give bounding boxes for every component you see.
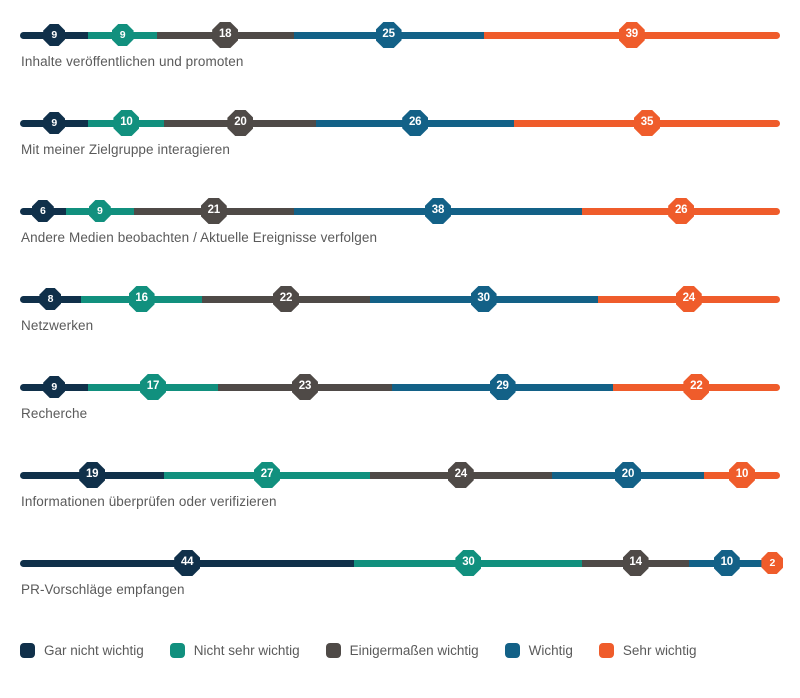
row-label: Netzwerken: [21, 318, 93, 333]
segment-value-marker: 9: [43, 112, 65, 134]
row-label: Mit meiner Zielgruppe interagieren: [21, 142, 230, 157]
segment-value-marker: 8: [39, 288, 61, 310]
segment-value-marker: 29: [490, 374, 516, 400]
segment-value-marker: 9: [43, 24, 65, 46]
bar-segment[interactable]: 20: [164, 120, 316, 127]
segment-value-marker: 20: [227, 110, 253, 136]
bar-segment[interactable]: 26: [316, 120, 514, 127]
segment-value-marker: 9: [112, 24, 134, 46]
segment-value-marker: 44: [174, 550, 200, 576]
legend-item[interactable]: Gar nicht wichtig: [20, 643, 144, 658]
bar-segment[interactable]: 22: [613, 384, 780, 391]
segment-value-marker: 27: [254, 462, 280, 488]
segment-value-marker: 25: [376, 22, 402, 48]
segment-value-marker: 14: [623, 550, 649, 576]
segment-value-marker: 35: [634, 110, 660, 136]
stacked-bar: 816223024: [20, 286, 780, 312]
segment-value-marker: 24: [676, 286, 702, 312]
bar-segment[interactable]: 29: [392, 384, 612, 391]
bar-track: 910202635: [20, 110, 780, 136]
chart-row: 69213826Andere Medien beobachten / Aktue…: [0, 176, 800, 264]
bar-segment[interactable]: 38: [294, 208, 583, 215]
row-label: Inhalte veröffentlichen und promoten: [21, 54, 244, 69]
segment-value-marker: 39: [619, 22, 645, 48]
bar-track: 816223024: [20, 286, 780, 312]
bar-segment[interactable]: 39: [484, 32, 780, 39]
legend-item-label: Wichtig: [529, 643, 573, 658]
segment-value-marker: 22: [683, 374, 709, 400]
legend-item[interactable]: Sehr wichtig: [599, 643, 697, 658]
legend-item[interactable]: Nicht sehr wichtig: [170, 643, 300, 658]
bar-segment[interactable]: 30: [370, 296, 598, 303]
segment-value-marker: 30: [455, 550, 481, 576]
row-label: Andere Medien beobachten / Aktuelle Erei…: [21, 230, 377, 245]
bar-segment[interactable]: 35: [514, 120, 780, 127]
segment-value-marker: 30: [471, 286, 497, 312]
segment-value-marker: 18: [212, 22, 238, 48]
stacked-bar: 69213826: [20, 198, 780, 224]
segment-value-marker: 23: [292, 374, 318, 400]
segment-value-marker: 10: [729, 462, 755, 488]
bar-track: 917232922: [20, 374, 780, 400]
chart-row: 910202635Mit meiner Zielgruppe interagie…: [0, 88, 800, 176]
legend-item[interactable]: Einigermaßen wichtig: [326, 643, 479, 658]
segment-value-marker: 10: [113, 110, 139, 136]
legend-item[interactable]: Wichtig: [505, 643, 573, 658]
bar-segment[interactable]: 22: [202, 296, 369, 303]
chart-row: 1927242010Informationen überprüfen oder …: [0, 440, 800, 528]
bar-segment[interactable]: 20: [552, 472, 704, 479]
bar-segment[interactable]: 25: [294, 32, 484, 39]
legend-item-label: Gar nicht wichtig: [44, 643, 144, 658]
segment-value-marker: 22: [273, 286, 299, 312]
bar-track: 99182539: [20, 22, 780, 48]
segment-value-marker: 21: [201, 198, 227, 224]
legend-swatch-icon: [505, 643, 520, 658]
bar-segment[interactable]: 27: [164, 472, 369, 479]
bar-segment[interactable]: 16: [81, 296, 203, 303]
legend-swatch-icon: [20, 643, 35, 658]
row-label: Informationen überprüfen oder verifizier…: [21, 494, 277, 509]
bar-track: 443014102: [20, 550, 780, 576]
legend-swatch-icon: [599, 643, 614, 658]
bar-segment[interactable]: 18: [157, 32, 294, 39]
row-label: Recherche: [21, 406, 87, 421]
bar-track: 69213826: [20, 198, 780, 224]
bar-segment[interactable]: 10: [704, 472, 780, 479]
legend-swatch-icon: [326, 643, 341, 658]
bar-segment[interactable]: 14: [582, 560, 688, 567]
bar-segment[interactable]: 2: [765, 560, 780, 567]
bar-segment[interactable]: 10: [689, 560, 765, 567]
bar-segment[interactable]: 30: [354, 560, 582, 567]
bar-track: 1927242010: [20, 462, 780, 488]
segment-value-marker: 9: [43, 376, 65, 398]
chart-row: 917232922Recherche: [0, 352, 800, 440]
legend-swatch-icon: [170, 643, 185, 658]
segment-value-marker: 24: [448, 462, 474, 488]
stacked-bar: 443014102: [20, 550, 780, 576]
bar-segment[interactable]: 26: [582, 208, 780, 215]
chart-row: 443014102PR-Vorschläge empfangen: [0, 528, 800, 616]
segment-value-marker: 38: [425, 198, 451, 224]
bar-segment[interactable]: 6: [20, 208, 66, 215]
segment-value-marker: 16: [129, 286, 155, 312]
chart-rows-area: 99182539Inhalte veröffentlichen und prom…: [0, 0, 800, 620]
legend-item-label: Nicht sehr wichtig: [194, 643, 300, 658]
chart-row: 816223024Netzwerken: [0, 264, 800, 352]
stacked-bar-chart: 99182539Inhalte veröffentlichen und prom…: [0, 0, 800, 698]
bar-segment[interactable]: 19: [20, 472, 164, 479]
row-label: PR-Vorschläge empfangen: [21, 582, 185, 597]
legend-item-label: Sehr wichtig: [623, 643, 697, 658]
bar-segment[interactable]: 9: [20, 32, 88, 39]
bar-segment[interactable]: 44: [20, 560, 354, 567]
bar-segment[interactable]: 9: [66, 208, 134, 215]
stacked-bar: 910202635: [20, 110, 780, 136]
stacked-bar: 1927242010: [20, 462, 780, 488]
segment-value-marker: 9: [89, 200, 111, 222]
segment-value-marker: 26: [668, 198, 694, 224]
bar-segment[interactable]: 10: [88, 120, 164, 127]
bar-segment[interactable]: 9: [88, 32, 156, 39]
legend-item-label: Einigermaßen wichtig: [350, 643, 479, 658]
bar-segment[interactable]: 21: [134, 208, 294, 215]
segment-value-marker: 10: [714, 550, 740, 576]
bar-segment[interactable]: 24: [598, 296, 780, 303]
bar-segment[interactable]: 23: [218, 384, 393, 391]
segment-value-marker: 19: [79, 462, 105, 488]
segment-value-marker: 17: [140, 374, 166, 400]
chart-legend: Gar nicht wichtigNicht sehr wichtigEinig…: [20, 643, 722, 658]
chart-row: 99182539Inhalte veröffentlichen und prom…: [0, 0, 800, 88]
bar-segment[interactable]: 9: [20, 120, 88, 127]
segment-value-marker: 2: [761, 552, 783, 574]
stacked-bar: 917232922: [20, 374, 780, 400]
bar-segment[interactable]: 9: [20, 384, 88, 391]
segment-value-marker: 26: [402, 110, 428, 136]
bar-segment[interactable]: 24: [370, 472, 552, 479]
bar-segment[interactable]: 17: [88, 384, 217, 391]
segment-value-marker: 6: [32, 200, 54, 222]
segment-value-marker: 20: [615, 462, 641, 488]
stacked-bar: 99182539: [20, 22, 780, 48]
bar-segment[interactable]: 8: [20, 296, 81, 303]
